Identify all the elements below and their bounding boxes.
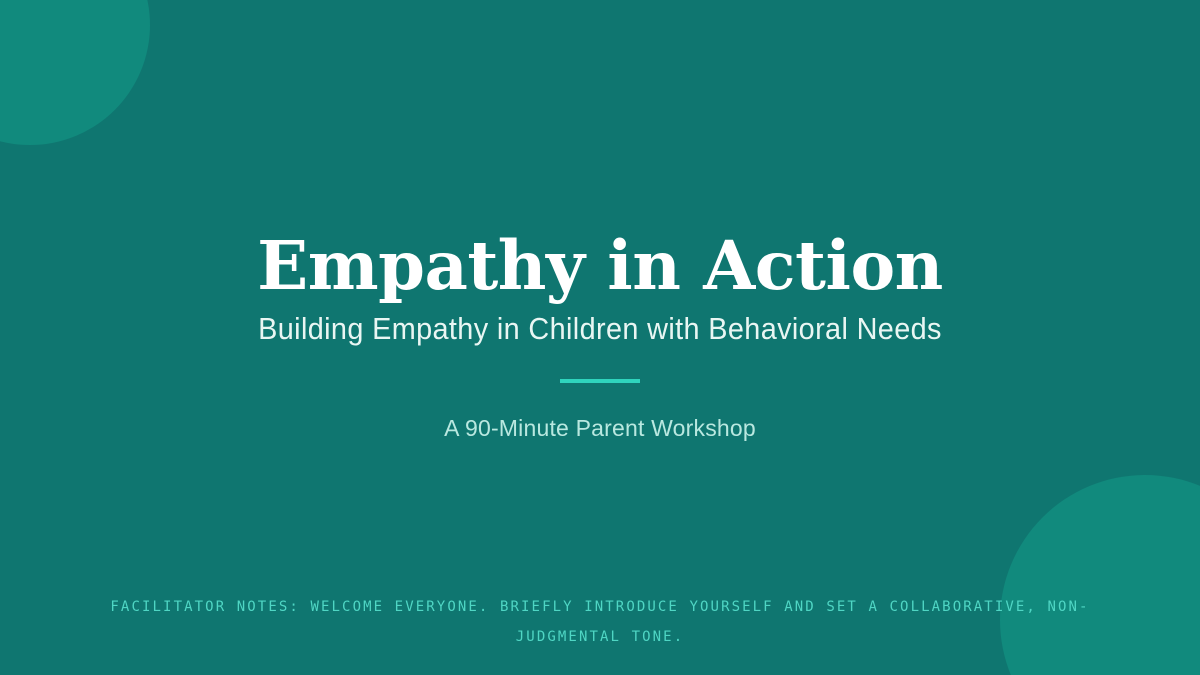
- slide-tagline: A 90-Minute Parent Workshop: [0, 413, 1200, 443]
- accent-divider: [560, 379, 640, 383]
- slide-content: Empathy in Action Building Empathy in Ch…: [0, 0, 1200, 675]
- slide-title: Empathy in Action: [0, 226, 1200, 306]
- title-slide: Empathy in Action Building Empathy in Ch…: [0, 0, 1200, 675]
- facilitator-notes: Facilitator notes: Welcome everyone. Bri…: [60, 592, 1140, 652]
- slide-subtitle: Building Empathy in Children with Behavi…: [42, 310, 1158, 348]
